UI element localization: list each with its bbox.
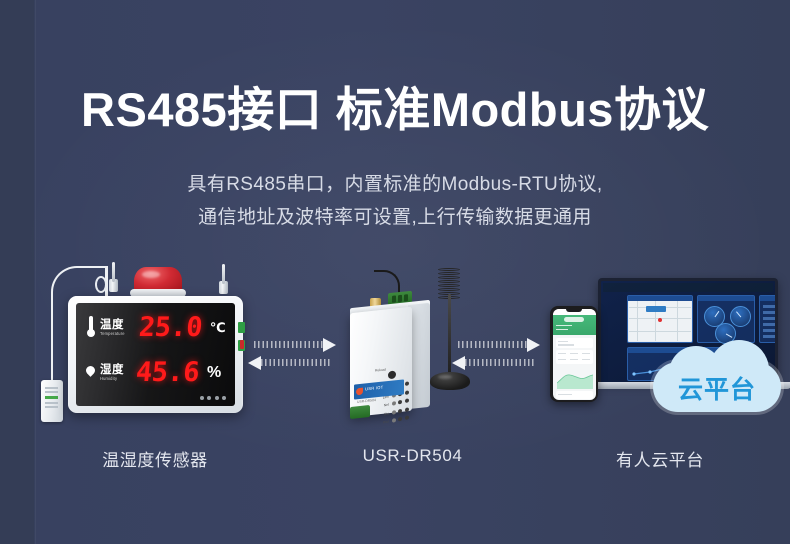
brand-label-text: USR IOT — [365, 385, 383, 392]
status-indicator-dots — [200, 396, 227, 400]
humidity-value: 45.6 — [135, 359, 200, 386]
cloud-platform-group: 云平台 — [540, 262, 780, 447]
caption-gateway: USR-DR504 — [305, 446, 520, 466]
antenna-rod-left — [112, 262, 115, 282]
cloud-badge-text: 云平台 — [653, 370, 781, 406]
antenna-whip — [448, 294, 451, 380]
sensor-housing: 温度 Temperature 25.0 ℃ 湿度 Humidity — [68, 296, 243, 413]
reload-label: Reload — [375, 368, 386, 373]
terminal-block-bottom — [350, 405, 370, 419]
subtitle-line-2: 通信地址及波特率可设置,上行传输数据更通用 — [0, 201, 790, 234]
temperature-reading-row: 温度 Temperature 25.0 ℃ — [85, 314, 226, 341]
humidity-label-cn: 湿度 — [100, 364, 124, 376]
arrow-left-bottom — [248, 358, 330, 367]
dashboard-map-panel — [627, 295, 693, 343]
caption-cloud: 有人云平台 — [565, 446, 755, 471]
cloud-platform-badge: 云平台 — [653, 340, 781, 418]
temperature-label-en: Temperature — [100, 331, 125, 336]
subtitle-line-1: 具有RS485串口，内置标准的Modbus-RTU协议, — [0, 168, 790, 201]
phone-area-chart — [557, 367, 593, 389]
dashboard-list-panel — [759, 295, 778, 343]
arrow-right-top — [254, 340, 336, 349]
arrow-right-top-2 — [458, 340, 540, 349]
temperature-value: 25.0 — [138, 314, 203, 341]
caption-sensor: 温湿度传感器 — [60, 446, 250, 471]
page-subtitle: 具有RS485串口，内置标准的Modbus-RTU协议, 通信地址及波特率可设置… — [0, 168, 790, 235]
sensor-display-screen: 温度 Temperature 25.0 ℃ 湿度 Humidity — [76, 303, 235, 406]
temperature-label-cn: 温度 — [100, 319, 127, 331]
humidity-unit: % — [207, 365, 221, 381]
antenna-loop-icon — [95, 276, 107, 293]
dashboard-gauge-panel — [697, 295, 755, 343]
arrow-left-bottom-2 — [452, 358, 534, 367]
reload-button[interactable] — [388, 370, 396, 379]
sensor-probe — [41, 380, 63, 422]
page-title: RS485接口 标准Modbus协议 — [0, 84, 790, 136]
mobile-phone-app — [550, 306, 598, 402]
product-banner: RS485接口 标准Modbus协议 具有RS485串口，内置标准的Modbus… — [0, 0, 790, 544]
temperature-humidity-sensor: 温度 Temperature 25.0 ℃ 湿度 Humidity — [33, 262, 255, 442]
water-drop-icon — [85, 361, 96, 385]
humidity-label-en: Humidity — [100, 376, 122, 381]
temperature-unit: ℃ — [210, 321, 226, 334]
antenna-rod-right — [222, 264, 225, 284]
thermometer-icon — [85, 316, 96, 340]
humidity-reading-row: 湿度 Humidity 45.6 % — [85, 359, 221, 386]
